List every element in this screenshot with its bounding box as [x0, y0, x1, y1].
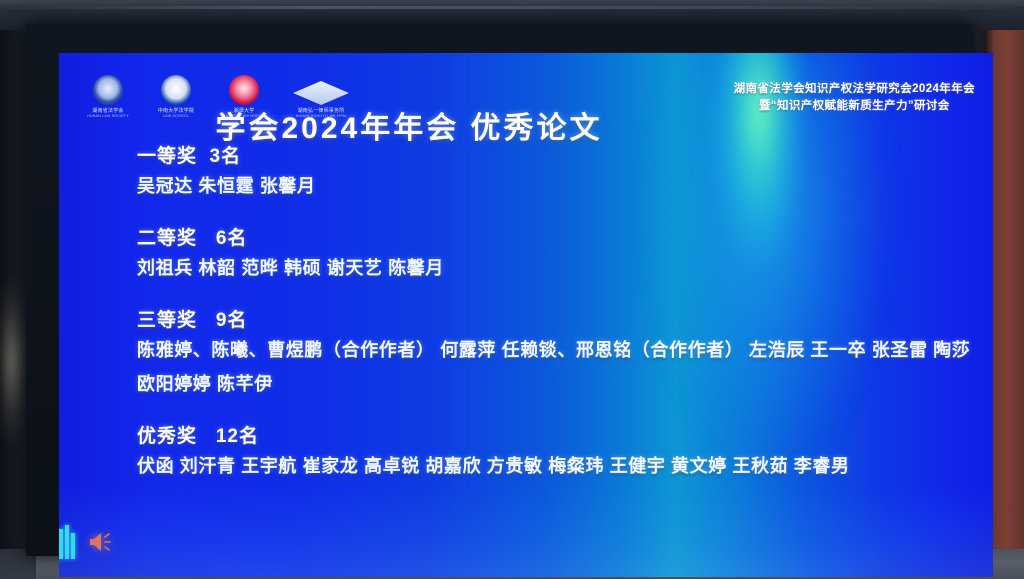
- screen-bezel: 湖南省法学会 HUNAN LAW SOCIETY 中南大学法学院 LAW SCH…: [26, 24, 972, 556]
- audio-indicator: [59, 525, 115, 559]
- room-photo: 湖南省法学会 HUNAN LAW SOCIETY 中南大学法学院 LAW SCH…: [0, 0, 1024, 579]
- award-names-text: 伏函 刘汗青 王宇航 崔家龙 高卓锐 胡嘉欣 方贵敏 梅粲玮 王健宇 黄文婷 王…: [137, 456, 850, 476]
- award-heading: 优秀奖 12名: [137, 421, 973, 448]
- award-heading: 二等奖 6名: [137, 223, 973, 250]
- slide-content: 湖南省法学会 HUNAN LAW SOCIETY 中南大学法学院 LAW SCH…: [59, 53, 993, 577]
- equalizer-bars-icon: [59, 525, 75, 559]
- conference-header-line1: 湖南省法学会知识产权法学研究会2024年年会: [734, 81, 975, 98]
- award-heading: 三等奖 9名: [137, 305, 973, 332]
- university-emblem-icon: [161, 75, 191, 105]
- xiangtan-emblem-icon: [229, 75, 259, 105]
- award-names: 伏函 刘汗青 王宇航 崔家龙 高卓锐 胡嘉欣 方贵敏 梅粲玮 王健宇 黄文婷 王…: [137, 453, 973, 481]
- award-names-text: 吴冠达 朱恒霆 张馨月: [137, 176, 316, 196]
- award-heading: 一等奖 3名: [137, 141, 973, 168]
- projection-screen: 湖南省法学会 HUNAN LAW SOCIETY 中南大学法学院 LAW SCH…: [59, 53, 993, 577]
- ceiling-trim: [0, 6, 1024, 9]
- speaker-icon: [89, 531, 115, 553]
- conference-header-line2: 暨“知识产权赋能新质生产力”研讨会: [734, 98, 975, 115]
- award-names-continued: 欧阳婷婷 陈芊伊: [137, 371, 973, 399]
- award-names: 刘祖兵 林韶 范晔 韩硕 谢天艺 陈馨月: [137, 255, 973, 283]
- conference-header: 湖南省法学会知识产权法学研究会2024年年会 暨“知识产权赋能新质生产力”研讨会: [734, 81, 975, 116]
- law-firm-diamond-icon: [293, 81, 349, 105]
- award-block-third-prize: 三等奖 9名 陈雅婷、陈曦、曹煜鹏（合作作者） 何露萍 任赖锬、邢恩铭（合作作者…: [137, 305, 973, 399]
- award-names-text: 刘祖兵 林韶 范晔 韩硕 谢天艺 陈馨月: [137, 258, 444, 278]
- award-block-second-prize: 二等奖 6名 刘祖兵 林韶 范晔 韩硕 谢天艺 陈馨月: [137, 223, 973, 283]
- award-block-excellence-prize: 优秀奖 12名 伏函 刘汗青 王宇航 崔家龙 高卓锐 胡嘉欣 方贵敏 梅粲玮 王…: [137, 421, 973, 481]
- award-names: 陈雅婷、陈曦、曹煜鹏（合作作者） 何露萍 任赖锬、邢恩铭（合作作者） 左浩辰 王…: [137, 337, 973, 399]
- award-block-first-prize: 一等奖 3名 吴冠达 朱恒霆 张馨月: [137, 141, 973, 201]
- award-names-text: 陈雅婷、陈曦、曹煜鹏（合作作者） 何露萍 任赖锬、邢恩铭（合作作者） 左浩辰 王…: [137, 340, 970, 360]
- award-list: 一等奖 3名 吴冠达 朱恒霆 张馨月 二等奖 6名 刘祖兵 林韶 范晔 韩硕 谢…: [137, 141, 973, 502]
- award-names: 吴冠达 朱恒霆 张馨月: [137, 173, 973, 201]
- law-society-emblem-icon: [93, 75, 123, 105]
